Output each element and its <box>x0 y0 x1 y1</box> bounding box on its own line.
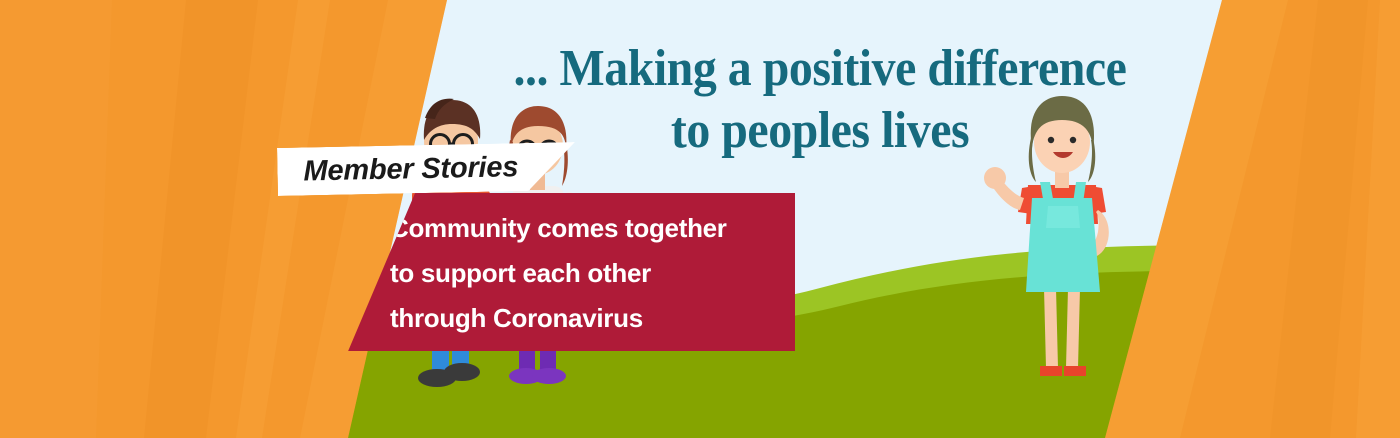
story-line-1: Community comes together <box>390 206 790 251</box>
member-stories-band: Member Stories <box>277 142 576 196</box>
member-stories-banner: ... Making a positive difference to peop… <box>0 0 1400 438</box>
story-line-2: to support each other <box>390 251 790 296</box>
story-headline-lines: Community comes together to support each… <box>390 206 790 341</box>
story-line-3: through Coronavirus <box>390 296 790 341</box>
member-stories-label: Member Stories <box>277 151 518 189</box>
